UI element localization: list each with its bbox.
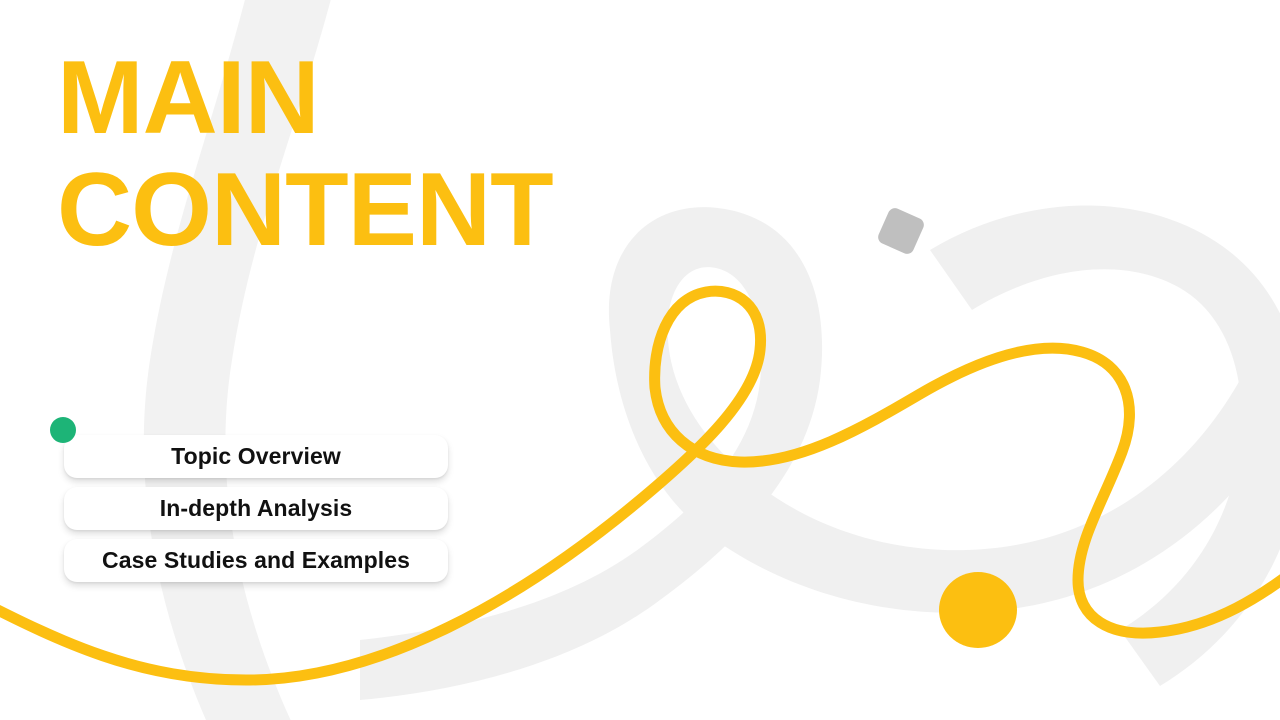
bullet-card-topic-overview[interactable]: Topic Overview [64, 435, 448, 478]
bullet-card-label: Case Studies and Examples [102, 547, 410, 574]
bullet-card-label: Topic Overview [171, 443, 341, 470]
gray-rotated-square [876, 206, 926, 256]
bullet-card-label: In-depth Analysis [160, 495, 353, 522]
gray-ribbon-shape [360, 207, 1280, 700]
page-title-line-1: MAIN [57, 48, 697, 150]
yellow-filled-circle [939, 572, 1017, 648]
page-title-line-2: CONTENT [57, 160, 697, 262]
gray-ribbon-right [930, 205, 1280, 686]
bullet-card-case-studies-and-examples[interactable]: Case Studies and Examples [64, 539, 448, 582]
bullet-card-in-depth-analysis[interactable]: In-depth Analysis [64, 487, 448, 530]
bullet-card-list: Topic Overview In-depth Analysis Case St… [64, 435, 448, 591]
green-dot-marker [50, 417, 76, 443]
page-title: MAIN CONTENT [57, 48, 697, 262]
slide-canvas: MAIN CONTENT Topic Overview In-depth Ana… [0, 0, 1280, 720]
